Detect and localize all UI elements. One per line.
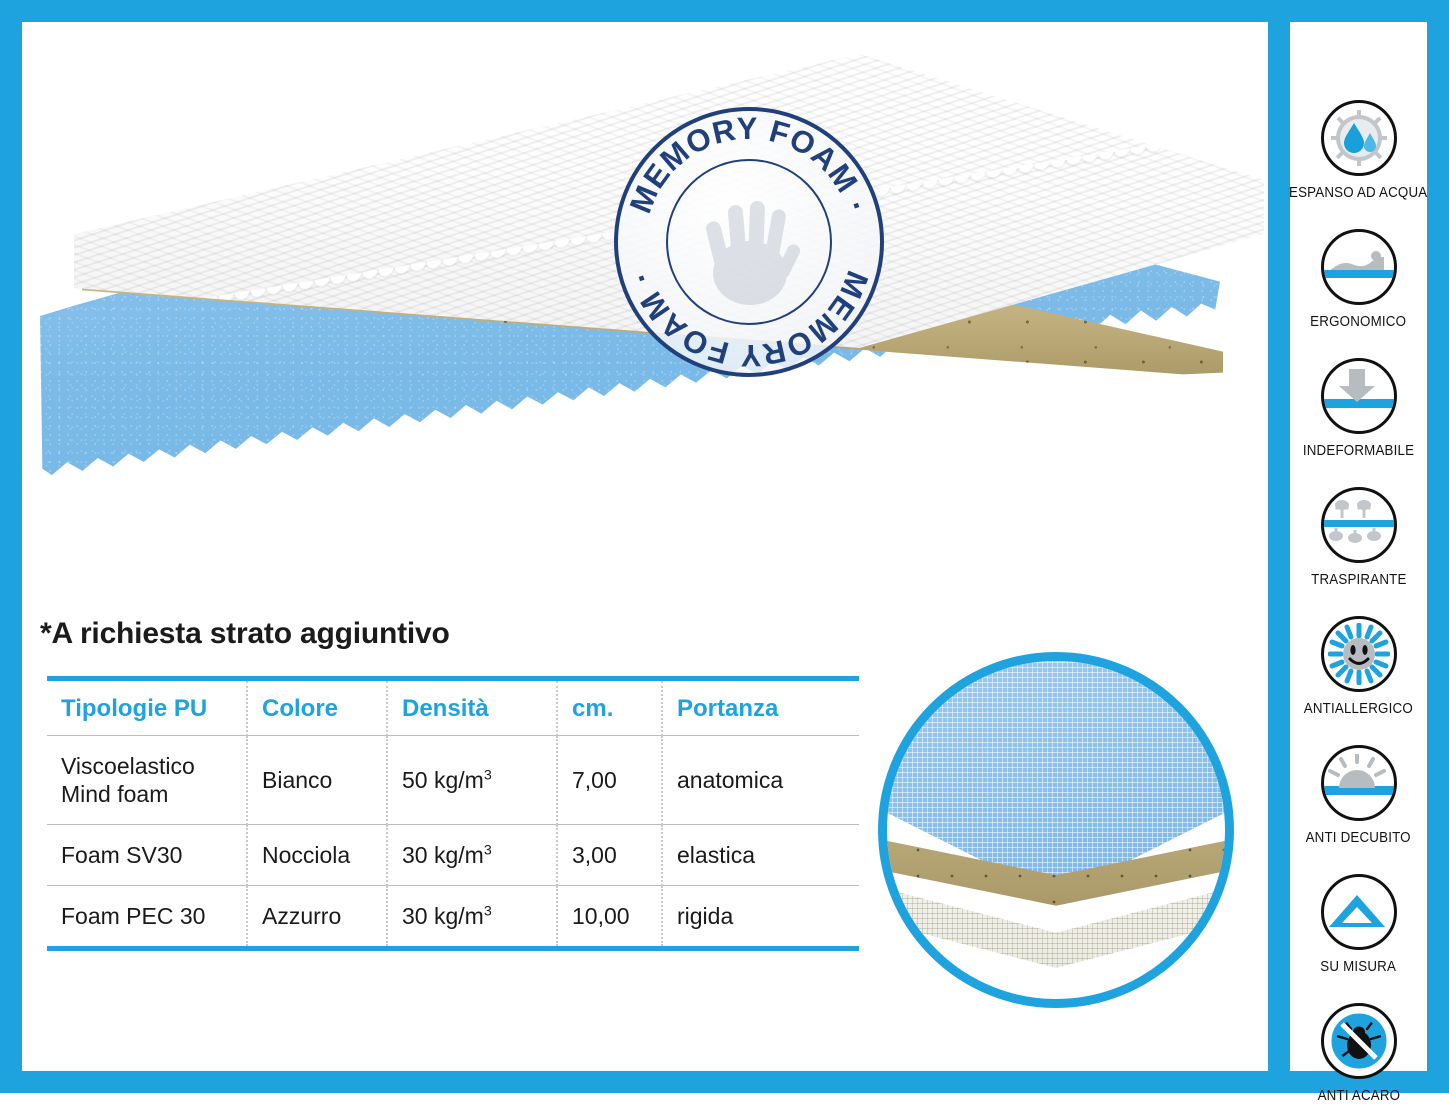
cell-densita: 30 kg/m3: [387, 886, 557, 949]
densita-exponent: 3: [484, 903, 492, 919]
cell-densita: 50 kg/m3: [387, 736, 557, 825]
badge-text-bottom: MEMORY FOAM ·: [623, 266, 876, 373]
cell-portanza: rigida: [662, 886, 859, 949]
sunrise-icon: [1321, 745, 1397, 821]
cell-portanza: anatomica: [662, 736, 859, 825]
memory-foam-badge: MEMORY FOAM · MEMORY FOAM ·: [614, 107, 884, 377]
down-arrow-icon: [1321, 358, 1397, 434]
cell-densita: 30 kg/m3: [387, 825, 557, 886]
cell-colore: Nocciola: [247, 825, 387, 886]
water-drops-gear-icon: [1321, 100, 1397, 176]
cell-tipologia: Foam SV30: [47, 825, 247, 886]
column-header-portanza: Portanza: [662, 679, 859, 736]
cell-tipologia: Viscoelastico Mind foam: [47, 736, 247, 825]
reclining-body-icon: [1321, 229, 1397, 305]
densita-value: 30 kg/m: [402, 842, 484, 868]
mattress-illustration: MEMORY FOAM · MEMORY FOAM ·: [22, 22, 1268, 602]
cell-colore: Azzurro: [247, 886, 387, 949]
feature-traspirante: TRASPIRANTE: [1290, 487, 1427, 588]
feature-anti-acaro: ANTI ACARO: [1290, 1003, 1427, 1104]
densita-value: 50 kg/m: [402, 767, 484, 793]
column-header-densita: Densità: [387, 679, 557, 736]
tipologia-line-1: Viscoelastico: [61, 753, 195, 779]
feature-anti-decubito: ANTI DECUBITO: [1290, 745, 1427, 846]
mattress-corner-detail-photo: [878, 652, 1234, 1008]
spec-heading: *A richiesta strato aggiuntivo: [40, 617, 450, 651]
badge-text-top: MEMORY FOAM ·: [623, 111, 876, 218]
column-header-cm: cm.: [557, 679, 662, 736]
table-row: Foam PEC 30 Azzurro 30 kg/m3 10,00 rigid…: [47, 886, 859, 949]
table-header-row: Tipologie PU Colore Densità cm. Portanza: [47, 679, 859, 736]
vertical-divider: [1268, 22, 1290, 1071]
feature-antiallergico: ANTIALLERGICO: [1290, 616, 1427, 717]
feature-ergonomico: ERGONOMICO: [1290, 229, 1427, 330]
column-header-tipologie: Tipologie PU: [47, 679, 247, 736]
feature-label: ERGONOMICO: [1311, 314, 1407, 330]
tipologia-line-2: Mind foam: [61, 781, 168, 807]
densita-exponent: 3: [484, 767, 492, 783]
spec-table: Tipologie PU Colore Densità cm. Portanza…: [47, 676, 859, 951]
cell-portanza: elastica: [662, 825, 859, 886]
feature-label: ANTI DECUBITO: [1306, 830, 1411, 846]
cell-cm: 10,00: [557, 886, 662, 949]
table-row: Foam SV30 Nocciola 30 kg/m3 3,00 elastic…: [47, 825, 859, 886]
cell-tipologia: Foam PEC 30: [47, 886, 247, 949]
feature-su-misura: SU MISURA: [1290, 874, 1427, 975]
badge-circular-text: MEMORY FOAM · MEMORY FOAM ·: [614, 107, 884, 377]
airflow-icon: [1321, 487, 1397, 563]
densita-value: 30 kg/m: [402, 903, 484, 929]
densita-exponent: 3: [484, 842, 492, 858]
feature-label: ESPANSO AD ACQUA: [1289, 185, 1427, 201]
feature-label: TRASPIRANTE: [1311, 572, 1406, 588]
feature-label: SU MISURA: [1321, 959, 1397, 975]
triangle-ruler-icon: [1321, 874, 1397, 950]
feature-label: INDEFORMABILE: [1303, 443, 1414, 459]
smiling-sun-icon: [1321, 616, 1397, 692]
cell-colore: Bianco: [247, 736, 387, 825]
feature-espanso-ad-acqua: ESPANSO AD ACQUA: [1290, 100, 1427, 201]
feature-label: ANTIALLERGICO: [1304, 701, 1413, 717]
feature-icon-rail: ESPANSO AD ACQUA ERGONOMICO INDEFORMABIL…: [1290, 22, 1427, 1071]
no-mite-icon: [1321, 1003, 1397, 1079]
cell-cm: 7,00: [557, 736, 662, 825]
column-header-colore: Colore: [247, 679, 387, 736]
cell-cm: 3,00: [557, 825, 662, 886]
feature-indeformabile: INDEFORMABILE: [1290, 358, 1427, 459]
feature-label: ANTI ACARO: [1317, 1088, 1400, 1104]
table-row: Viscoelastico Mind foam Bianco 50 kg/m3 …: [47, 736, 859, 825]
